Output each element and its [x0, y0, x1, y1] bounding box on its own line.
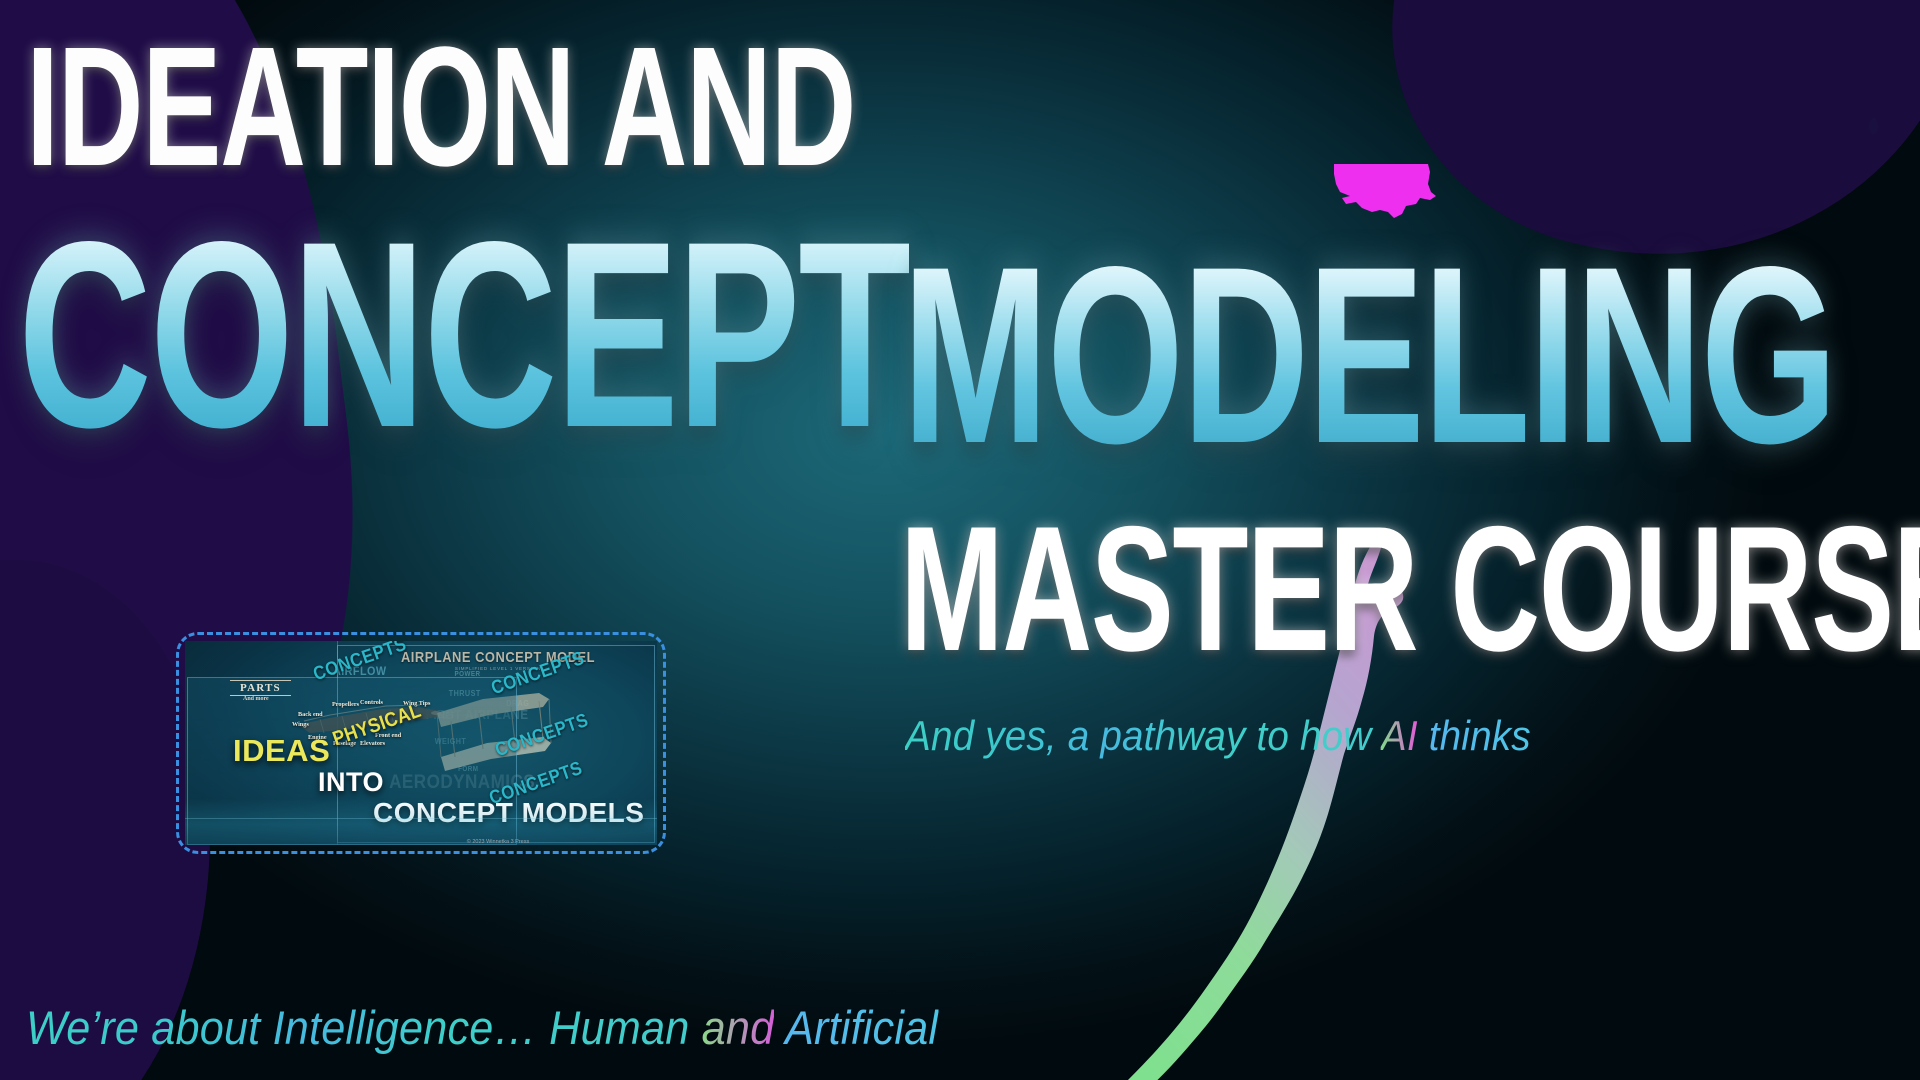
- tagline-bottom: We’re about Intelligence… Human and Arti…: [26, 1000, 938, 1055]
- tagline-bottom-highlight: and: [702, 1001, 775, 1054]
- concept-model-thumbnail: THE FIRST AIRPLANE AERODYNAMICS THRUST D…: [185, 641, 657, 845]
- headline-line-concept: CONCEPT: [18, 222, 909, 450]
- plane-label-propellers: Propellers: [332, 701, 359, 708]
- headline-line-master-course: MASTER COURSE: [900, 512, 1920, 665]
- headline-block: IDEATION AND CONCEPT MODELING MASTER COU…: [0, 0, 1920, 740]
- plane-label-wings: Wings: [292, 721, 309, 728]
- overlay-text-into: INTO: [318, 767, 384, 798]
- plane-label-controls: Controls: [360, 699, 383, 706]
- headline-line-ideation-and: IDEATION AND: [26, 34, 855, 180]
- tagline-ai-part1: And yes, a pathway to how: [905, 712, 1381, 759]
- headline-line-modeling: MODELING: [902, 248, 1836, 465]
- overlay-text-ideas: IDEAS: [233, 733, 330, 769]
- tagline-ai-pathway: And yes, a pathway to how AI thinks: [905, 712, 1531, 760]
- tagline-bottom-part2: Artificial: [774, 1001, 938, 1054]
- tagline-bottom-part1: We’re about Intelligence… Human: [26, 1001, 702, 1054]
- concept-model-thumbnail-frame[interactable]: THE FIRST AIRPLANE AERODYNAMICS THRUST D…: [176, 632, 666, 854]
- slide-canvas: IDEATION AND CONCEPT MODELING MASTER COU…: [0, 0, 1920, 1080]
- thumbnail-parts-heading: PARTS: [230, 680, 291, 696]
- tagline-ai-part2: thinks: [1418, 712, 1531, 759]
- tagline-ai-highlight: AI: [1381, 712, 1418, 759]
- thumbnail-parts-subheading: And more: [243, 696, 269, 702]
- thumbnail-copyright: © 2023 Winnetka 3 Press: [373, 839, 623, 845]
- plane-label-back-end: Back end: [298, 711, 323, 718]
